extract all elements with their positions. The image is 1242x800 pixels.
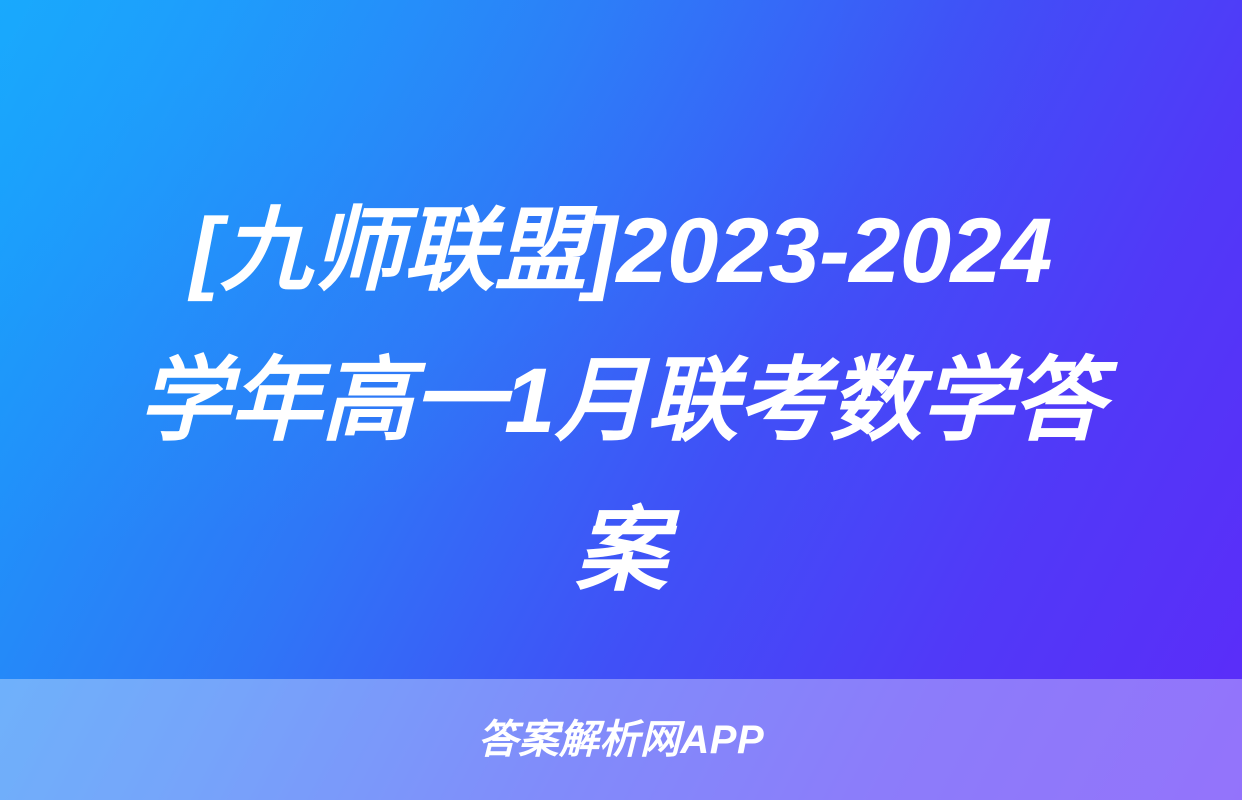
title-line-2: 学年高一1月联考数学答 [46, 326, 1196, 476]
title-line-1: [九师联盟]2023-2024 [46, 176, 1196, 326]
title-line-3: 案 [46, 476, 1196, 626]
page-title: [九师联盟]2023-2024 学年高一1月联考数学答 案 [0, 176, 1242, 626]
answer-banner: [九师联盟]2023-2024 学年高一1月联考数学答 案 答案解析网APP [0, 0, 1242, 800]
footer-watermark-band: 答案解析网APP [0, 679, 1242, 800]
watermark-text: 答案解析网APP [478, 720, 764, 760]
